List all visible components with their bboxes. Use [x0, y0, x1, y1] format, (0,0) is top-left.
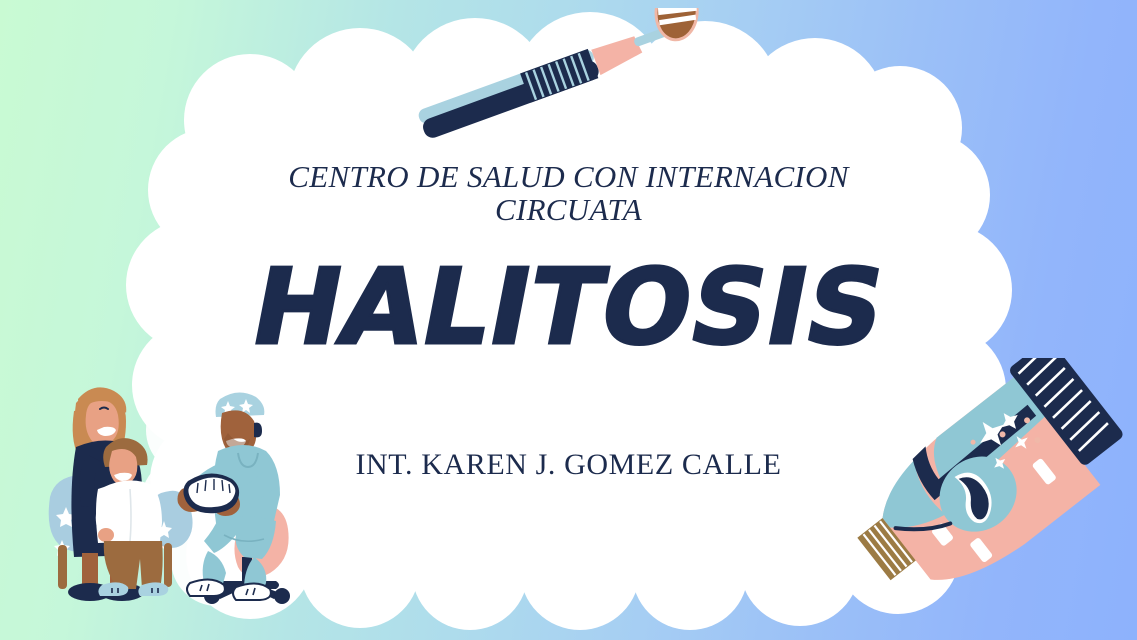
- page-title: HALITOSIS: [178, 255, 958, 359]
- presentation-slide: CENTRO DE SALUD CON INTERNACION CIRCUATA…: [0, 0, 1137, 640]
- institution-subtitle: CENTRO DE SALUD CON INTERNACION CIRCUATA: [259, 160, 879, 227]
- author-line: INT. KAREN J. GOMEZ CALLE: [219, 448, 919, 482]
- slide-text-layer: CENTRO DE SALUD CON INTERNACION CIRCUATA…: [0, 0, 1137, 640]
